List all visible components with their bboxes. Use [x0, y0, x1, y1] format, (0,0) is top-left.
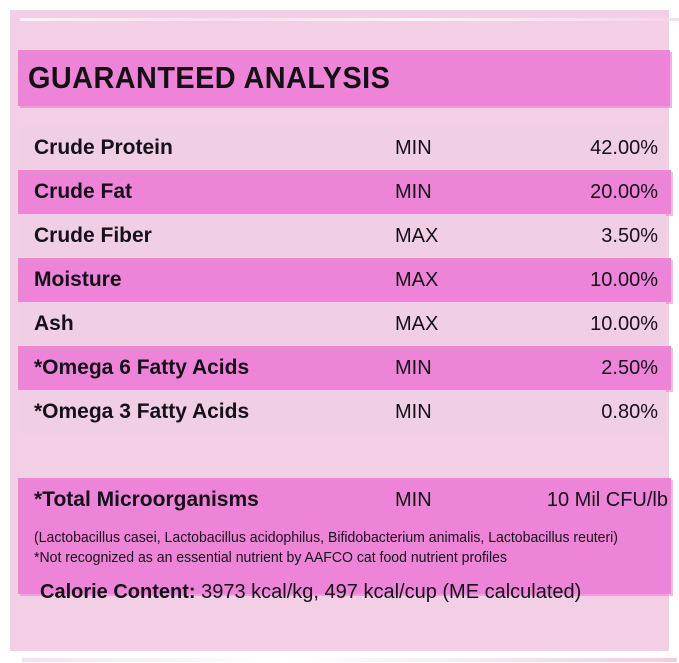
table-row: Ash MAX 10.00% [10, 302, 669, 346]
nutrient-qualifier: MIN [395, 390, 432, 434]
nutrient-label: Crude Fat [34, 170, 132, 214]
nutrient-qualifier: MIN [395, 346, 432, 390]
table-row: Moisture MAX 10.00% [10, 258, 669, 302]
table-row: Crude Protein MIN 42.00% [10, 126, 669, 170]
table-row: Crude Fat MIN 20.00% [10, 170, 669, 214]
nutrient-label: Crude Fiber [34, 214, 152, 258]
nutrient-value: 10.00% [590, 302, 658, 346]
page-title: GUARANTEED ANALYSIS [28, 60, 390, 96]
nutrient-qualifier: MAX [395, 214, 438, 258]
footnotes: (Lactobacillus casei, Lactobacillus acid… [34, 528, 664, 568]
footnote-aafco: *Not recognized as an essential nutrient… [34, 548, 645, 568]
nutrient-value: 42.00% [590, 126, 658, 170]
nutrient-label: Crude Protein [34, 126, 173, 170]
footnote-strains: (Lactobacillus casei, Lactobacillus acid… [34, 528, 645, 548]
nutrient-value: 20.00% [590, 170, 658, 214]
nutrient-value: 10.00% [590, 258, 658, 302]
row-band [18, 302, 666, 346]
nutrient-value: 0.80% [601, 390, 658, 434]
nutrition-table: Crude Protein MIN 42.00% Crude Fat MIN 2… [10, 126, 669, 434]
nutrient-label: *Omega 6 Fatty Acids [34, 346, 249, 390]
nutrient-label: Moisture [34, 258, 122, 302]
nutrient-label: *Total Microorganisms [34, 478, 259, 522]
nutrient-label: *Omega 3 Fatty Acids [34, 390, 249, 434]
nutrient-label: Ash [34, 302, 74, 346]
table-row: *Omega 6 Fatty Acids MIN 2.50% [10, 346, 669, 390]
guaranteed-analysis-panel: GUARANTEED ANALYSIS Crude Protein MIN 42… [10, 10, 669, 651]
nutrient-qualifier: MAX [395, 302, 438, 346]
panel-top-edge [20, 18, 679, 21]
nutrient-value: 10 Mil CFU/lb [547, 478, 668, 522]
total-microorganisms-block: *Total Microorganisms MIN 10 Mil CFU/lb … [18, 478, 671, 594]
nutrient-qualifier: MAX [395, 258, 438, 302]
nutrient-value: 3.50% [601, 214, 658, 258]
nutrient-qualifier: MIN [395, 170, 432, 214]
calorie-content: Calorie Content: 3973 kcal/kg, 497 kcal/… [40, 581, 581, 604]
calorie-content-label: Calorie Content: [40, 581, 196, 603]
panel-bottom-edge [22, 658, 677, 662]
nutrient-qualifier: MIN [395, 126, 432, 170]
table-row: Crude Fiber MAX 3.50% [10, 214, 669, 258]
calorie-content-value: 3973 kcal/kg, 497 kcal/cup (ME calculate… [196, 581, 582, 603]
nutrient-value: 2.50% [601, 346, 658, 390]
nutrient-qualifier: MIN [395, 478, 432, 522]
table-row: *Omega 3 Fatty Acids MIN 0.80% [10, 390, 669, 434]
